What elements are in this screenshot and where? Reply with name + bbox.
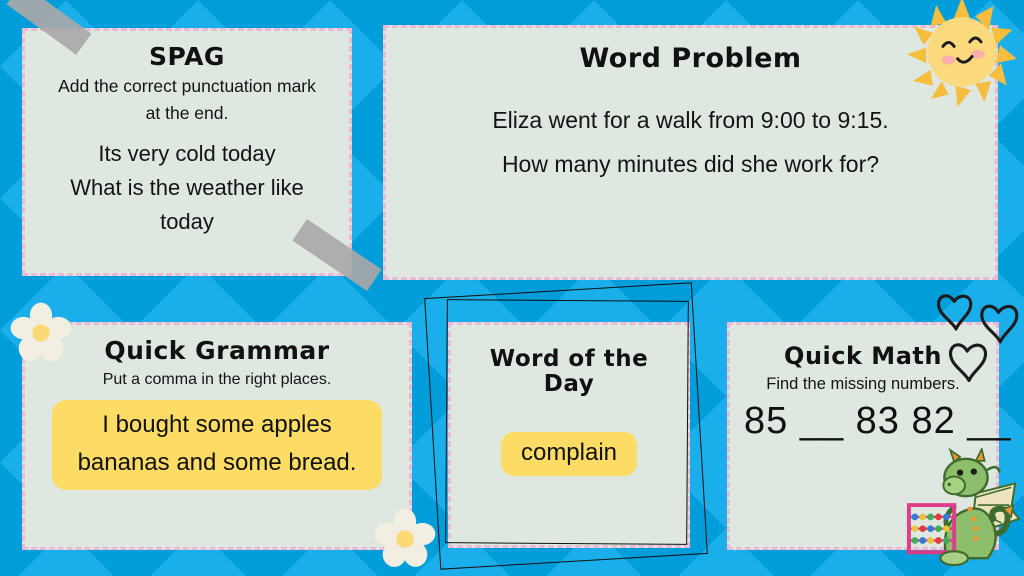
spag-question-line-3: today [39,206,335,238]
card-word-of-the-day[interactable]: Word of the Day complain [448,322,690,548]
quick-grammar-instruction: Put a comma in the right places. [39,369,395,391]
word-problem-line-1: Eliza went for a walk from 9:00 to 9:15. [400,100,981,140]
quick-grammar-title: Quick Grammar [39,337,395,365]
quick-grammar-highlight: I bought some apples bananas and some br… [52,400,382,491]
word-of-the-day-title: Word of the Day [465,347,673,398]
word-of-the-day-word: complain [501,432,637,476]
card-quick-math[interactable]: Quick Math Find the missing numbers. 85 … [727,322,999,550]
quick-math-title: Quick Math [744,343,982,369]
quick-grammar-sentence-line-1: I bought some apples [56,406,378,444]
spag-instruction-line-2: at the end. [39,101,335,125]
spag-question-line-1: Its very cold today [39,138,335,170]
quick-math-instruction: Find the missing numbers. [744,373,982,396]
card-quick-grammar[interactable]: Quick Grammar Put a comma in the right p… [22,322,412,550]
slide-canvas: SPAG Add the correct punctuation mark at… [0,0,1024,576]
card-word-problem[interactable]: Word Problem Eliza went for a walk from … [383,25,998,280]
word-problem-title: Word Problem [400,44,981,74]
word-problem-line-2: How many minutes did she work for? [400,144,981,184]
quick-math-sequence: 85 __ 83 82 __ [744,400,982,443]
quick-grammar-sentence-line-2: bananas and some bread. [42,444,392,482]
spag-question-line-2: What is the weather like [39,172,335,204]
spag-instruction-line-1: Add the correct punctuation mark [39,74,335,98]
spag-title: SPAG [39,43,335,71]
